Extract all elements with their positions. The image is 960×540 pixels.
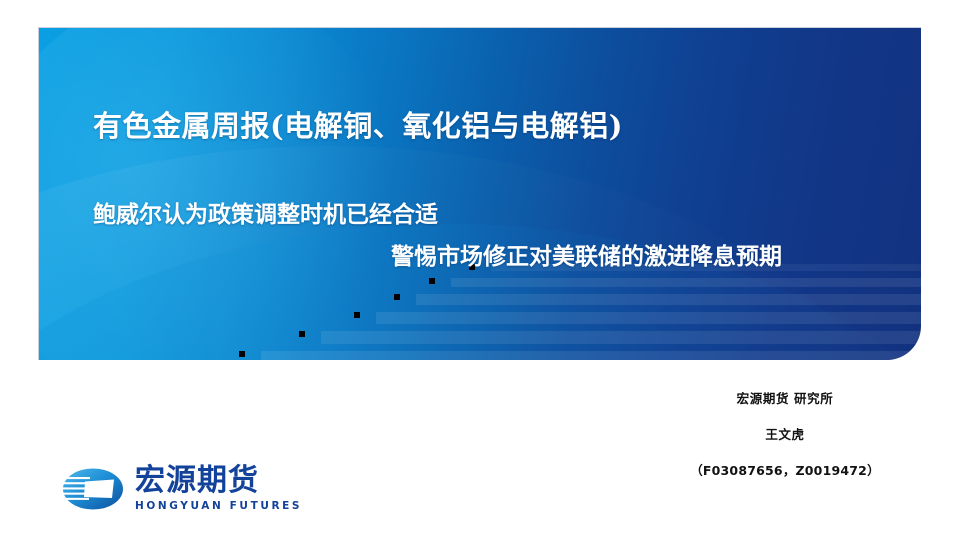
logo-chinese-name: 宏源期货 — [135, 466, 302, 496]
credits-block: 宏源期货 研究所 王文虎 （F03087656，Z0019472） — [640, 388, 930, 479]
credit-author: 王文虎 — [640, 424, 930, 443]
hongyuan-ellipse-mark-icon — [62, 466, 124, 512]
subtitle-line-1: 鲍威尔认为政策调整时机已经合适 — [93, 195, 438, 229]
logo-text-block: 宏源期货 HONGYUAN FUTURES — [135, 466, 302, 512]
credit-license-numbers: （F03087656，Z0019472） — [640, 460, 930, 479]
banner-stripes — [39, 28, 921, 360]
logo-english-name: HONGYUAN FUTURES — [135, 501, 302, 512]
title-banner: 有色金属周报(电解铜、氧化铝与电解铝) 鲍威尔认为政策调整时机已经合适 警惕市场… — [38, 27, 921, 360]
subtitle-line-2: 警惕市场修正对美联储的激进降息预期 — [391, 237, 782, 271]
page-title: 有色金属周报(电解铜、氧化铝与电解铝) — [93, 103, 623, 145]
credit-department: 宏源期货 研究所 — [640, 388, 930, 407]
banner-glow — [38, 27, 409, 360]
company-logo: 宏源期货 HONGYUAN FUTURES — [62, 466, 302, 512]
publication-date: 2024年8月28日 — [792, 357, 897, 360]
